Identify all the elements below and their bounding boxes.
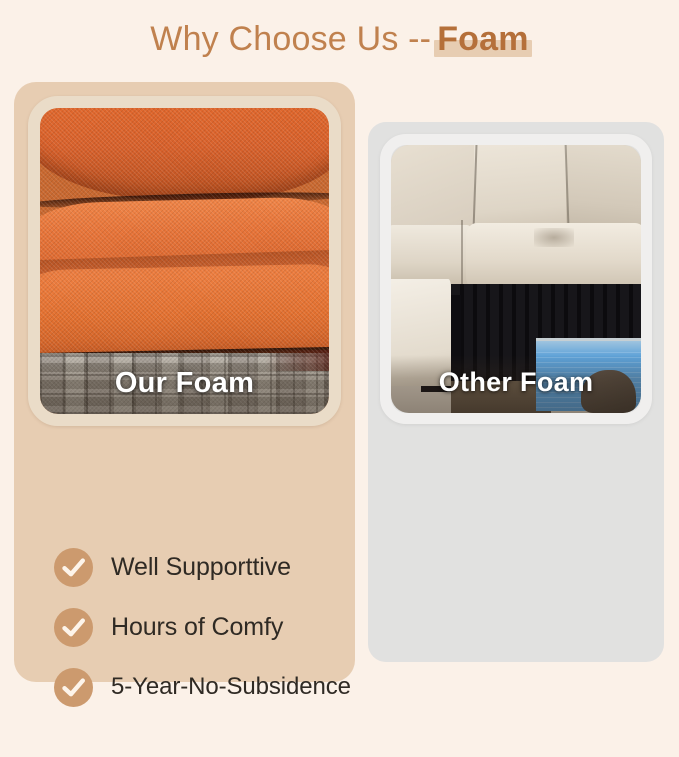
feature-row: Hours of Comfy — [54, 597, 364, 657]
feature-label: Hours of Comfy — [111, 613, 283, 642]
our-foam-caption-text: Our Foam — [115, 367, 254, 400]
check-icon — [54, 668, 93, 707]
our-foam-panel: Our Foam Well Supporttive Hours of Comfy — [14, 82, 355, 682]
page-title-accent: Foam — [437, 20, 528, 58]
other-foam-panel: Other Foam Very Hard Get Uneven Soon — [368, 122, 664, 662]
page-title-accent-wrap: Foam — [437, 20, 528, 59]
page-title: Why Choose Us --Foam — [0, 20, 679, 70]
other-foam-caption-bar: Other Foam — [391, 355, 641, 413]
feature-row: 5-Year-No-Subsidence — [54, 657, 364, 717]
page-title-main: Why Choose Us -- — [150, 20, 431, 58]
check-icon — [54, 608, 93, 647]
cushion-stain — [534, 228, 574, 247]
our-foam-caption-bar: Our Foam — [40, 356, 329, 414]
our-foam-feature-list: Well Supporttive Hours of Comfy 5-Year-N… — [54, 537, 364, 717]
our-foam-photo-frame: Our Foam — [28, 96, 341, 426]
our-foam-photo: Our Foam — [40, 108, 329, 414]
other-foam-photo: Other Foam — [391, 145, 641, 413]
feature-label: Well Supporttive — [111, 553, 291, 582]
orange-backrest-cushion — [40, 108, 329, 200]
other-foam-caption-text: Other Foam — [439, 367, 594, 398]
feature-row: Well Supporttive — [54, 537, 364, 597]
check-icon — [54, 548, 93, 587]
seat-shadow-line — [461, 220, 463, 292]
other-foam-photo-frame: Other Foam — [380, 134, 652, 424]
feature-label: 5-Year-No-Subsidence — [111, 673, 351, 701]
